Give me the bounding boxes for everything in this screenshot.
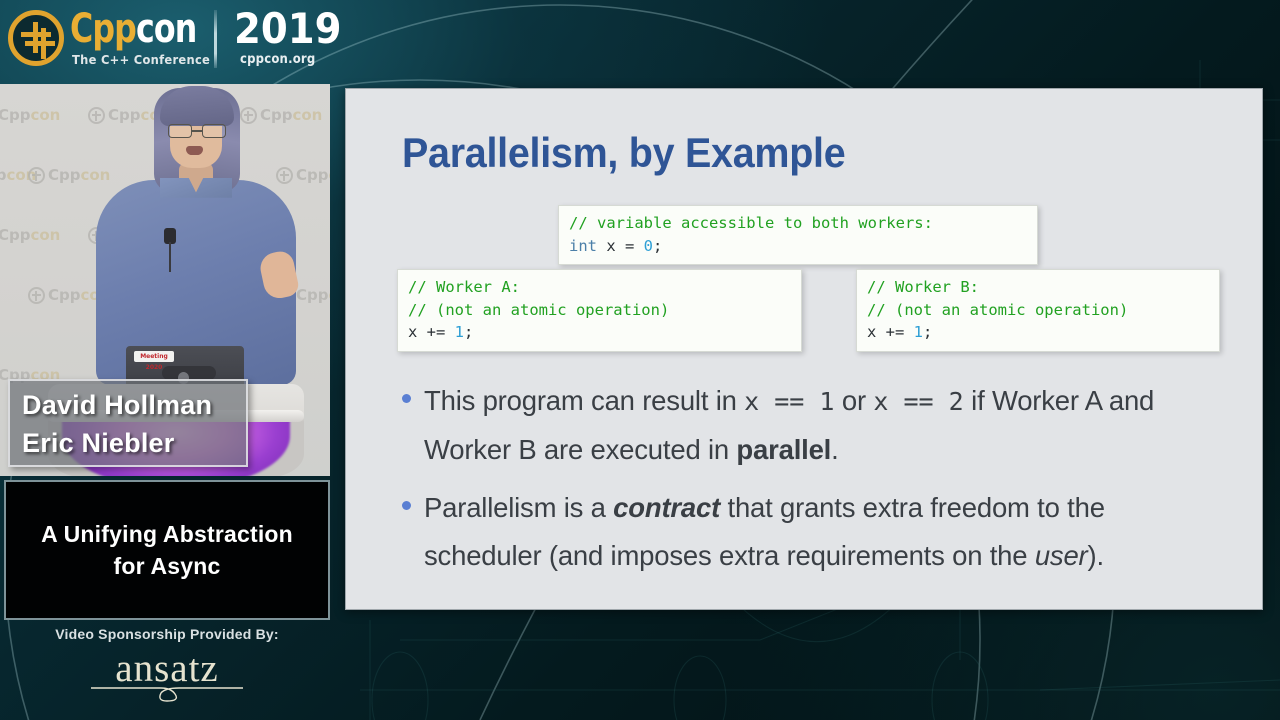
code-comment: // variable accessible to both workers: — [569, 214, 933, 232]
slide-bullet-1: This program can result in x == 1 or x =… — [396, 377, 1216, 474]
code-text: x = — [597, 237, 644, 255]
bullet-2-seg1: Parallelism is a — [424, 492, 613, 523]
conference-year: 2019 — [234, 4, 342, 53]
glasses-icon — [168, 124, 226, 138]
code-block-worker-b: // Worker B: // (not an atomic operation… — [856, 269, 1220, 352]
code-punct: ; — [653, 237, 662, 255]
cppcon-wordmark: Cppcon — [70, 8, 196, 50]
code-punct: ; — [923, 323, 932, 341]
laptop-sticker: Meeting 2020 — [134, 351, 174, 362]
sponsor-swash-icon — [87, 684, 247, 704]
bullet-1-expr2: x == 2 — [873, 387, 963, 416]
code-block-shared-variable: // variable accessible to both workers: … — [558, 205, 1038, 265]
bullet-2-italic: user — [1035, 540, 1088, 571]
talk-title: A Unifying Abstraction for Async — [41, 518, 293, 582]
backdrop-logo: Cppcon — [0, 226, 60, 244]
cppcon-header: Cppcon The C++ Conference 2019 cppcon.or… — [0, 0, 340, 84]
code-block-worker-a: // Worker A: // (not an atomic operation… — [397, 269, 802, 352]
speaker-name-2: Eric Niebler — [22, 424, 246, 462]
sponsor-block: Video Sponsorship Provided By: ansatz — [0, 626, 334, 709]
talk-title-line1: A Unifying Abstraction — [41, 521, 293, 547]
code-number: 0 — [644, 237, 653, 255]
sponsor-label: Video Sponsorship Provided By: — [0, 626, 334, 642]
broadcast-stage: Cppcon The C++ Conference 2019 cppcon.or… — [0, 0, 1280, 720]
slide-bullet-2: Parallelism is a contract that grants ex… — [396, 484, 1216, 580]
bullet-2-text: Parallelism is a contract that grants ex… — [424, 492, 1105, 571]
cppcon-wordmark-cpp: Cpp — [70, 6, 136, 52]
bullet-2-seg3: ). — [1088, 540, 1104, 571]
talk-title-box: A Unifying Abstraction for Async — [4, 480, 330, 620]
slide-bullet-list: This program can result in x == 1 or x =… — [396, 377, 1216, 590]
presentation-slide: Parallelism, by Example // variable acce… — [345, 88, 1263, 610]
code-comment: // Worker A: — [408, 278, 520, 296]
code-number: 1 — [455, 323, 464, 341]
code-text: x += — [408, 323, 455, 341]
bullet-1-text: This program can result in x == 1 or x =… — [424, 385, 1154, 465]
code-keyword: int — [569, 237, 597, 255]
cppcon-wordmark-con: con — [136, 6, 196, 52]
bullet-dot-icon — [402, 501, 411, 510]
bullet-dot-icon — [402, 394, 411, 403]
bullet-1-expr1: x == 1 — [744, 387, 834, 416]
code-number: 1 — [914, 323, 923, 341]
speaker-name-plate: David Hollman Eric Niebler — [8, 379, 248, 467]
bullet-2-bolditalic: contract — [613, 492, 720, 523]
cppcon-tagline: The C++ Conference — [72, 52, 210, 67]
bullet-1-seg1: This program can result in — [424, 385, 744, 416]
conference-url: cppcon.org — [240, 52, 315, 67]
code-comment: // Worker B: — [867, 278, 979, 296]
backdrop-logo: Cppcon — [0, 106, 60, 124]
code-punct: ; — [464, 323, 473, 341]
bullet-1-bold: parallel — [736, 434, 831, 465]
speaker-name-1: David Hollman — [22, 386, 246, 424]
cppcon-plus-logo-icon — [8, 10, 64, 66]
talk-title-line2: for Async — [113, 553, 220, 579]
slide-title: Parallelism, by Example — [402, 129, 845, 177]
bullet-1-seg4: . — [831, 434, 838, 465]
bullet-1-seg2: or — [834, 385, 873, 416]
header-divider — [214, 10, 217, 68]
code-comment: // (not an atomic operation) — [867, 301, 1128, 319]
code-text: x += — [867, 323, 914, 341]
speaker-figure — [96, 84, 296, 384]
code-comment: // (not an atomic operation) — [408, 301, 669, 319]
